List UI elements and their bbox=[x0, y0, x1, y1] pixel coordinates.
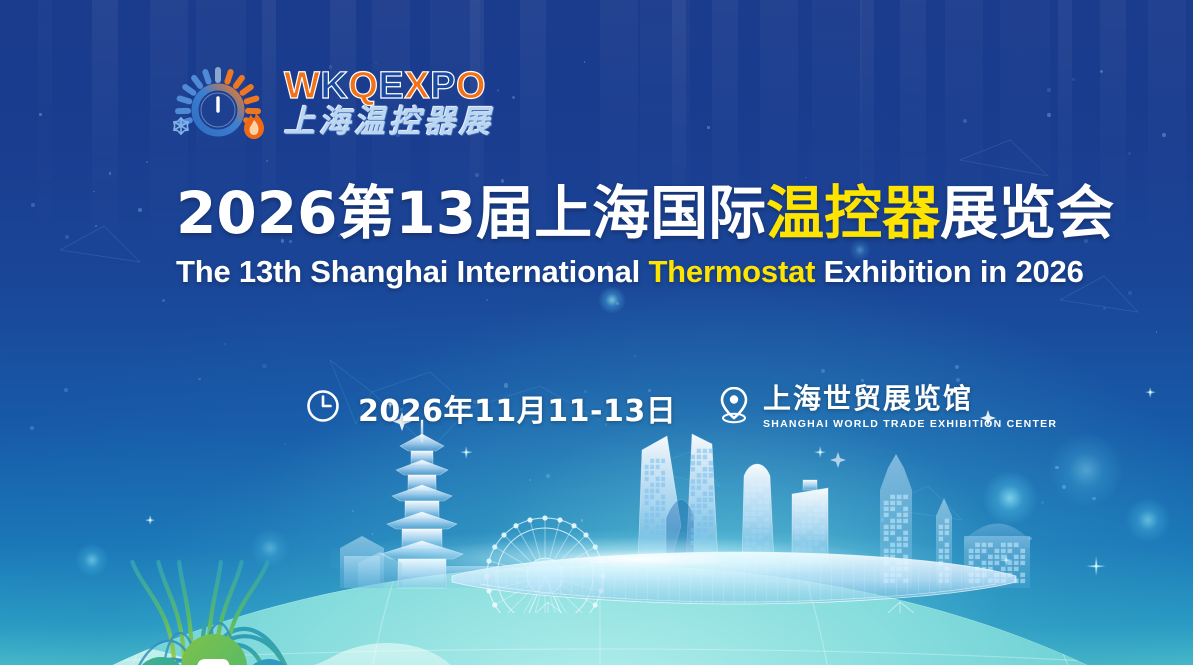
particle-dot bbox=[1128, 152, 1131, 155]
event-date: 2026年11月11-13日 bbox=[305, 386, 676, 430]
logo-letter-w-0: W bbox=[284, 67, 320, 105]
event-date-text: 2026年11月11-13日 bbox=[358, 386, 676, 430]
page-title-en: The 13th Shanghai International Thermost… bbox=[176, 254, 1084, 290]
particle-dot bbox=[95, 225, 97, 227]
logo-letter-o-6: O bbox=[456, 67, 486, 105]
light-orb bbox=[1048, 432, 1124, 508]
title-en-after: Exhibition in 2026 bbox=[815, 254, 1083, 289]
title-cn-after: 展览会 bbox=[940, 179, 1114, 247]
particle-dot bbox=[1062, 485, 1066, 489]
particle-dot bbox=[2, 356, 3, 357]
particle-dot bbox=[93, 191, 95, 193]
particle-dot bbox=[1072, 78, 1075, 81]
particle-dot bbox=[1100, 70, 1103, 73]
venue-name-en: SHANGHAI WORLD TRADE EXHIBITION CENTER bbox=[763, 418, 1057, 430]
exhibition-banner: WKQEXPO 上海温控器展 2026第13届上海国际温控器展览会 The 13… bbox=[0, 0, 1193, 665]
particle-dot bbox=[512, 96, 515, 99]
particle-dot bbox=[1128, 291, 1132, 295]
logo-letter-e-3: E bbox=[378, 67, 404, 105]
logo-wordmark-cn: 上海温控器展 bbox=[284, 106, 494, 139]
logo-letter-x-4: X bbox=[404, 67, 430, 105]
sparkle bbox=[1145, 387, 1156, 398]
shanghai-skyline bbox=[340, 398, 1040, 613]
particle-dot bbox=[963, 119, 967, 123]
particle-dot bbox=[634, 355, 636, 357]
particle-dot bbox=[1162, 133, 1166, 137]
industry-icon-tree bbox=[28, 312, 358, 665]
logo-letter-p-5: P bbox=[430, 67, 456, 105]
particle-dot bbox=[266, 160, 268, 162]
particle-dot bbox=[146, 161, 149, 164]
particle-dot bbox=[1055, 466, 1058, 469]
title-en-highlight: Thermostat bbox=[648, 254, 815, 289]
title-cn-before: 2026第13届上海国际 bbox=[176, 179, 766, 247]
particle-dot bbox=[109, 172, 111, 174]
logo-letter-q-2: Q bbox=[348, 67, 378, 105]
particle-dot bbox=[475, 173, 479, 177]
venue-name-cn: 上海世贸展览馆 bbox=[763, 383, 1057, 415]
particle-dot bbox=[1047, 88, 1050, 91]
logo-letter-k-1: K bbox=[320, 67, 348, 105]
particle-dot bbox=[138, 208, 142, 212]
light-orb bbox=[598, 286, 626, 314]
particle-dot bbox=[1047, 113, 1051, 117]
particle-dot bbox=[497, 89, 499, 91]
clock-icon bbox=[305, 388, 341, 429]
wkqexpo-logo[interactable]: WKQEXPO 上海温控器展 bbox=[166, 60, 494, 146]
particle-dot bbox=[1092, 497, 1096, 501]
event-venue: 上海世贸展览馆 SHANGHAI WORLD TRADE EXHIBITION … bbox=[717, 383, 1057, 430]
particle-dot bbox=[616, 302, 619, 305]
particle-dot bbox=[31, 203, 35, 207]
particle-dot bbox=[157, 251, 158, 252]
logo-wordmark-en: WKQEXPO bbox=[284, 67, 494, 105]
particle-dot bbox=[1103, 307, 1106, 310]
particle-dot bbox=[39, 113, 42, 116]
page-title-cn: 2026第13届上海国际温控器展览会 bbox=[176, 182, 1114, 245]
particle-dot bbox=[1156, 331, 1158, 333]
thermostat-dial-icon bbox=[166, 60, 270, 146]
particle-dot bbox=[707, 126, 710, 129]
particle-dot bbox=[821, 369, 825, 373]
title-cn-highlight: 温控器 bbox=[766, 179, 940, 247]
particle-dot bbox=[955, 365, 959, 369]
flame-icon bbox=[244, 111, 264, 139]
particle-dot bbox=[162, 299, 165, 302]
particle-dot bbox=[486, 299, 488, 301]
particle-dot bbox=[129, 101, 130, 102]
location-pin-icon bbox=[717, 385, 751, 430]
particle-dot bbox=[584, 61, 585, 62]
title-en-before: The 13th Shanghai International bbox=[176, 254, 648, 289]
particle-dot bbox=[65, 235, 69, 239]
particle-dot bbox=[1041, 501, 1044, 504]
